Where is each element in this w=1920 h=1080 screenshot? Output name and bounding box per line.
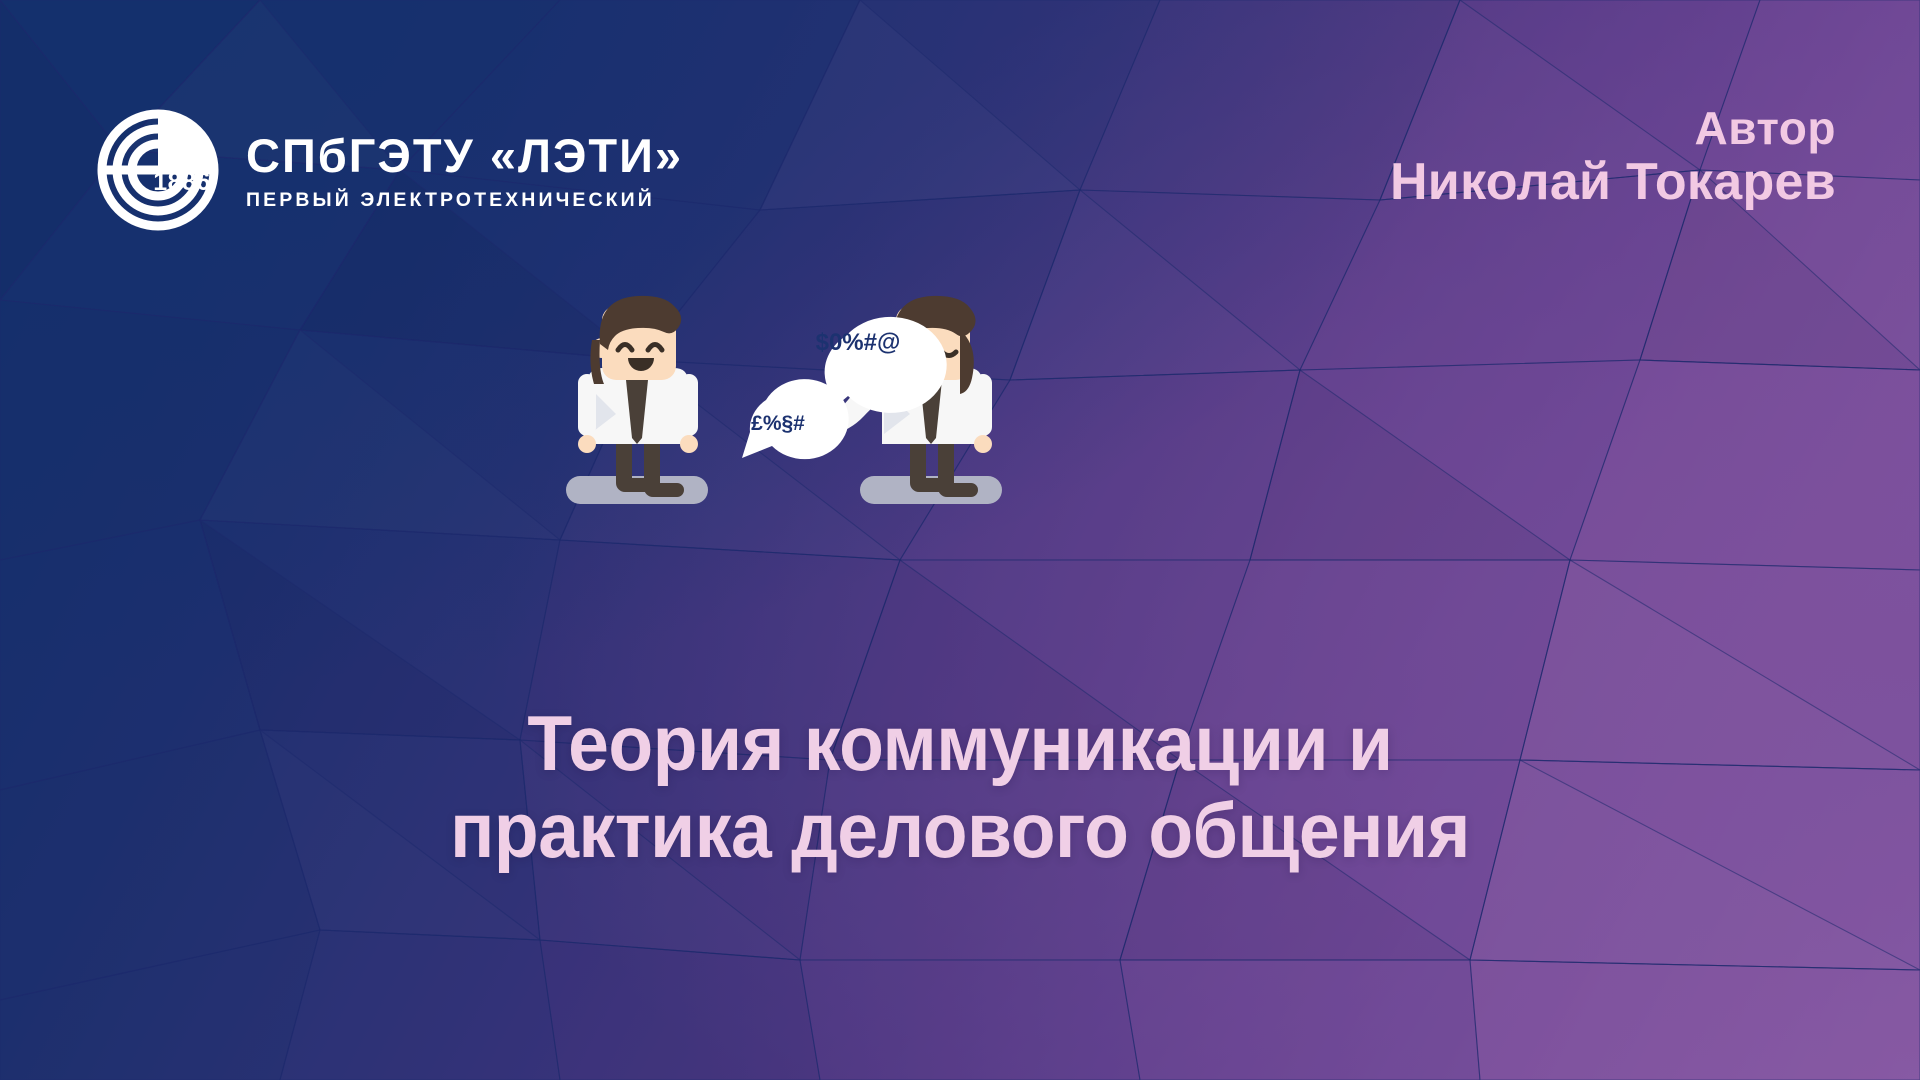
upper-speech-bubble-text: $0%#@ bbox=[816, 329, 901, 356]
university-subtitle: ПЕРВЫЙ ЭЛЕКТРОТЕХНИЧЕСКИЙ bbox=[246, 189, 683, 212]
author-block: Автор Николай Токарев bbox=[1390, 104, 1836, 210]
lower-speech-bubble-text: £%§# bbox=[751, 412, 805, 435]
page-title-line-1: Теория коммуникации и bbox=[58, 700, 1863, 787]
page-title-line-2: практика делового общения bbox=[58, 787, 1863, 874]
title-slide: 1886 СПбГЭТУ «ЛЭТИ» ПЕРВЫЙ ЭЛЕКТРОТЕХНИЧ… bbox=[0, 0, 1920, 1080]
left-character bbox=[566, 296, 708, 504]
author-label: Автор bbox=[1390, 104, 1836, 153]
author-name: Николай Токарев bbox=[1390, 155, 1836, 210]
university-logo-block: 1886 СПбГЭТУ «ЛЭТИ» ПЕРВЫЙ ЭЛЕКТРОТЕХНИЧ… bbox=[96, 108, 683, 232]
page-title: Теория коммуникации и практика делового … bbox=[58, 700, 1863, 875]
logo-year: 1886 bbox=[153, 168, 211, 196]
two-businessmen-illustration: $0%#@ £%§# bbox=[560, 278, 1060, 528]
lower-speech-bubble: £%§# bbox=[742, 379, 849, 459]
university-name: СПбГЭТУ «ЛЭТИ» bbox=[246, 132, 683, 180]
spbetu-leti-emblem-icon: 1886 bbox=[96, 108, 220, 232]
university-name-block: СПбГЭТУ «ЛЭТИ» ПЕРВЫЙ ЭЛЕКТРОТЕХНИЧЕСКИЙ bbox=[246, 128, 683, 212]
